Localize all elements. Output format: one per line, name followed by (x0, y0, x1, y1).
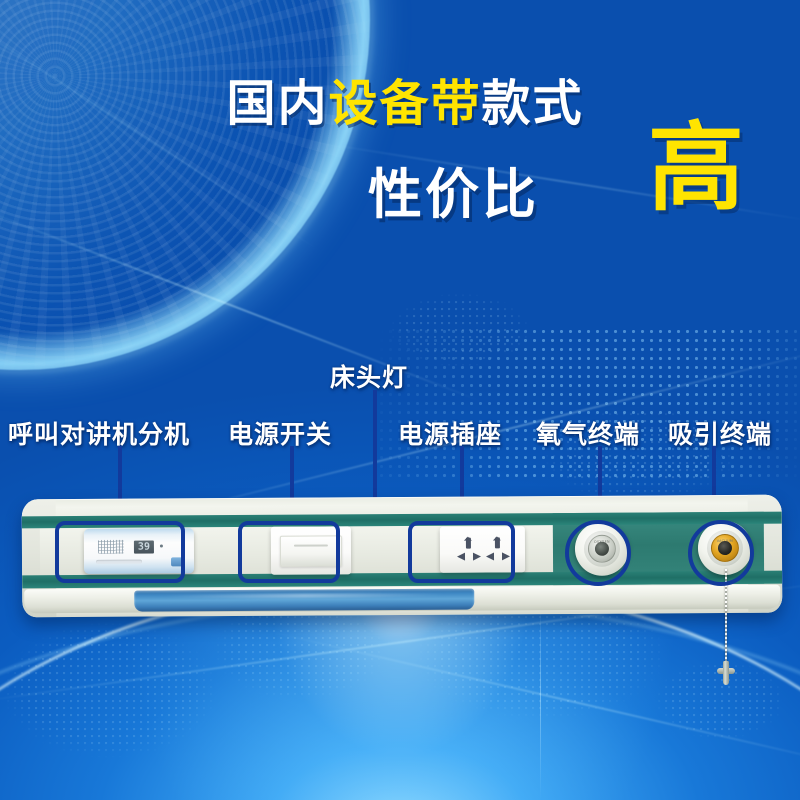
callout-label-intercom: 呼叫对讲机分机 (8, 415, 190, 451)
highlight-box-power-socket (408, 521, 515, 583)
callout-label-oxygen: 氧气终端 (536, 415, 640, 451)
callout-label-power-socket: 电源插座 (398, 415, 502, 451)
pull-cord-weight-stem (723, 661, 729, 685)
callout-label-power-switch: 电源开关 (228, 415, 332, 451)
bedside-light-bar[interactable] (134, 589, 474, 612)
callout-label-bed-lamp: 床头灯 (330, 358, 408, 394)
pull-cord-weight[interactable] (717, 661, 735, 685)
highlight-box-intercom (55, 521, 185, 583)
highlight-circle-oxygen (565, 520, 631, 586)
callout-layer: 呼叫对讲机分机 电源开关 床头灯 电源插座 氧气终端 吸引终端 (0, 0, 800, 800)
highlight-circle-suction (688, 520, 754, 586)
callout-label-suction: 吸引终端 (668, 415, 772, 451)
highlight-box-power-switch (238, 521, 340, 583)
